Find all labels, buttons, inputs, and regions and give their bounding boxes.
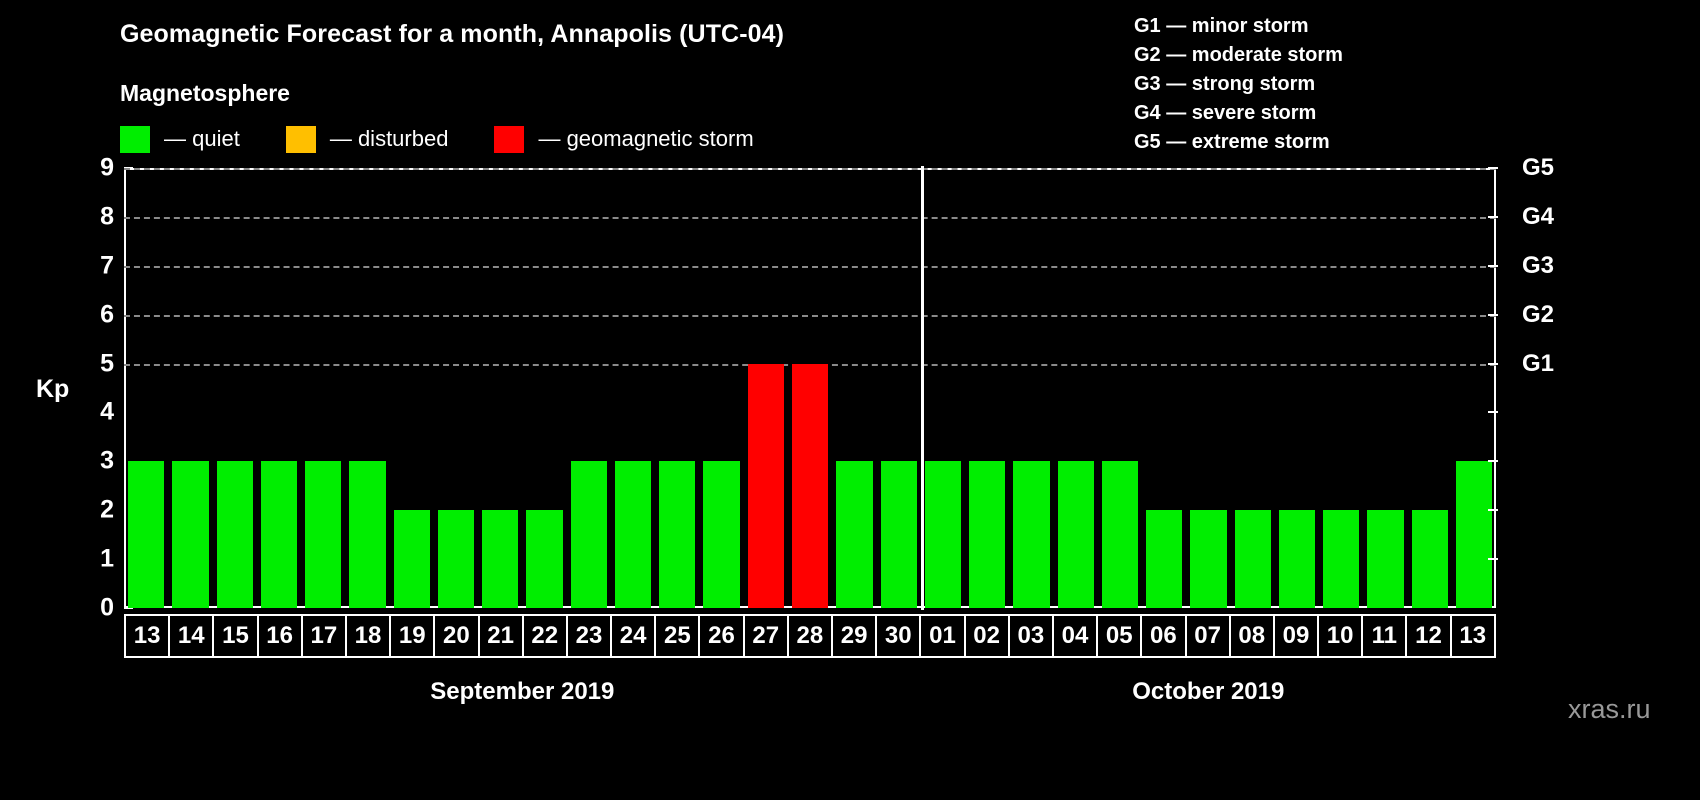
bar (1456, 461, 1492, 608)
date-label-4: 17 (303, 616, 347, 656)
bar-series (124, 168, 1496, 608)
chart-subtitle: Magnetosphere (120, 80, 290, 107)
bar-cell (699, 168, 743, 608)
date-label-15: 28 (789, 616, 833, 656)
bar-cell (1275, 168, 1319, 608)
y-tick-label-3: 3 (100, 447, 114, 476)
bar (1190, 510, 1226, 608)
legend-item-geomagnetic-storm: — geomagnetic storm (494, 126, 753, 153)
g-tickmark-2 (1488, 509, 1498, 511)
y-tick-label-6: 6 (100, 300, 114, 329)
bar-cell (168, 168, 212, 608)
date-label-17: 30 (877, 616, 921, 656)
storm-scale-line-1: G1 — minor storm (1134, 12, 1343, 41)
date-label-5: 18 (347, 616, 391, 656)
bar-cell (522, 168, 566, 608)
date-label-26: 09 (1275, 616, 1319, 656)
date-label-13: 26 (700, 616, 744, 656)
storm-scale-line-4: G4 — severe storm (1134, 99, 1343, 128)
legend-label-disturbed: — disturbed (330, 126, 449, 152)
date-label-0: 13 (126, 616, 170, 656)
bar-cell (213, 168, 257, 608)
date-label-22: 05 (1098, 616, 1142, 656)
y-tick-label-7: 7 (100, 251, 114, 280)
date-label-14: 27 (745, 616, 789, 656)
bar-cell (257, 168, 301, 608)
g-tickmark-1 (1488, 558, 1498, 560)
bar (261, 461, 297, 608)
bar-cell (434, 168, 478, 608)
date-label-3: 16 (259, 616, 303, 656)
bar (969, 461, 1005, 608)
bar (1102, 461, 1138, 608)
bar (172, 461, 208, 608)
bar (1323, 510, 1359, 608)
y-tick-label-0: 0 (100, 594, 114, 623)
bar-cell (744, 168, 788, 608)
bar (881, 461, 917, 608)
month-caption-1: October 2019 (921, 678, 1496, 706)
g-tick-label-G5: G5 (1522, 154, 1554, 182)
month-divider-line (921, 166, 924, 610)
legend-swatch-geomagnetic-storm (494, 126, 524, 153)
chart-root: Geomagnetic Forecast for a month, Annapo… (0, 0, 1700, 800)
bar (1279, 510, 1315, 608)
bar-cell (1452, 168, 1496, 608)
date-label-29: 12 (1407, 616, 1451, 656)
date-label-16: 29 (833, 616, 877, 656)
y-tick-label-4: 4 (100, 398, 114, 427)
bar-cell (1009, 168, 1053, 608)
storm-scale-line-3: G3 — strong storm (1134, 70, 1343, 99)
g-tickmark-9 (1488, 167, 1498, 169)
bar-cell (965, 168, 1009, 608)
bar-cell (877, 168, 921, 608)
bar-cell (1142, 168, 1186, 608)
y-axis-left-ticks: 0123456789 (0, 168, 114, 608)
color-legend: — quiet— disturbed— geomagnetic storm (120, 124, 800, 154)
g-tick-label-G2: G2 (1522, 301, 1554, 329)
date-label-21: 04 (1054, 616, 1098, 656)
watermark: xras.ru (1568, 694, 1651, 725)
bar-cell (655, 168, 699, 608)
legend-swatch-disturbed (286, 126, 316, 153)
g-tickmark-4 (1488, 411, 1498, 413)
y-axis-right-ticks: G1G2G3G4G5 (1500, 168, 1620, 608)
g-tick-label-G3: G3 (1522, 252, 1554, 280)
bar (394, 510, 430, 608)
bar (1367, 510, 1403, 608)
bar (1235, 510, 1271, 608)
bar (128, 461, 164, 608)
g-tickmark-5 (1488, 363, 1498, 365)
g-tickmark-3 (1488, 460, 1498, 462)
date-label-25: 08 (1231, 616, 1275, 656)
bar-cell (788, 168, 832, 608)
date-label-28: 11 (1363, 616, 1407, 656)
plot-area (124, 168, 1496, 608)
bar (615, 461, 651, 608)
date-label-1: 14 (170, 616, 214, 656)
date-label-6: 19 (391, 616, 435, 656)
bar-cell (1186, 168, 1230, 608)
date-label-11: 24 (612, 616, 656, 656)
legend-item-quiet: — quiet (120, 126, 240, 153)
bar-cell (345, 168, 389, 608)
date-axis: 1314151617181920212223242526272829300102… (124, 614, 1496, 658)
y-tick-label-5: 5 (100, 349, 114, 378)
bar-cell (1319, 168, 1363, 608)
bar (1013, 461, 1049, 608)
bar (305, 461, 341, 608)
bar (748, 364, 784, 608)
bar-cell (1098, 168, 1142, 608)
bar (792, 364, 828, 608)
bar (1146, 510, 1182, 608)
date-label-9: 22 (524, 616, 568, 656)
bar-cell (124, 168, 168, 608)
date-label-10: 23 (568, 616, 612, 656)
date-label-24: 07 (1187, 616, 1231, 656)
date-label-19: 02 (966, 616, 1010, 656)
y-tick-label-1: 1 (100, 545, 114, 574)
g-tickmark-7 (1488, 265, 1498, 267)
g-tickmark-8 (1488, 216, 1498, 218)
bar (703, 461, 739, 608)
bar-cell (478, 168, 522, 608)
bar (438, 510, 474, 608)
bar-cell (1408, 168, 1452, 608)
bar-cell (832, 168, 876, 608)
date-label-2: 15 (214, 616, 258, 656)
storm-scale-line-5: G5 — extreme storm (1134, 128, 1343, 157)
g-tickmark-6 (1488, 314, 1498, 316)
bar-cell (1054, 168, 1098, 608)
bar-cell (1363, 168, 1407, 608)
bar-cell (301, 168, 345, 608)
bar (349, 461, 385, 608)
y-tick-label-8: 8 (100, 202, 114, 231)
g-tick-label-G1: G1 (1522, 350, 1554, 378)
date-label-23: 06 (1142, 616, 1186, 656)
bar (1058, 461, 1094, 608)
legend-label-quiet: — quiet (164, 126, 240, 152)
month-caption-0: September 2019 (124, 678, 921, 706)
bar-cell (921, 168, 965, 608)
date-label-20: 03 (1010, 616, 1054, 656)
date-label-7: 20 (435, 616, 479, 656)
bar (482, 510, 518, 608)
date-label-30: 13 (1452, 616, 1494, 656)
bar (217, 461, 253, 608)
date-label-8: 21 (480, 616, 524, 656)
bar (1412, 510, 1448, 608)
legend-label-geomagnetic-storm: — geomagnetic storm (538, 126, 753, 152)
legend-item-disturbed: — disturbed (286, 126, 449, 153)
bar (571, 461, 607, 608)
date-label-18: 01 (921, 616, 965, 656)
g-tick-label-G4: G4 (1522, 203, 1554, 231)
y-tick-label-9: 9 (100, 154, 114, 183)
legend-swatch-quiet (120, 126, 150, 153)
bar-cell (1231, 168, 1275, 608)
bar (925, 461, 961, 608)
bar (836, 461, 872, 608)
page-title: Geomagnetic Forecast for a month, Annapo… (120, 20, 784, 49)
bar (526, 510, 562, 608)
bar-cell (611, 168, 655, 608)
storm-scale-legend: G1 — minor stormG2 — moderate stormG3 — … (1134, 12, 1343, 157)
storm-scale-line-2: G2 — moderate storm (1134, 41, 1343, 70)
bar-cell (390, 168, 434, 608)
date-label-27: 10 (1319, 616, 1363, 656)
bar-cell (567, 168, 611, 608)
bar (659, 461, 695, 608)
y-tick-label-2: 2 (100, 496, 114, 525)
date-label-12: 25 (656, 616, 700, 656)
